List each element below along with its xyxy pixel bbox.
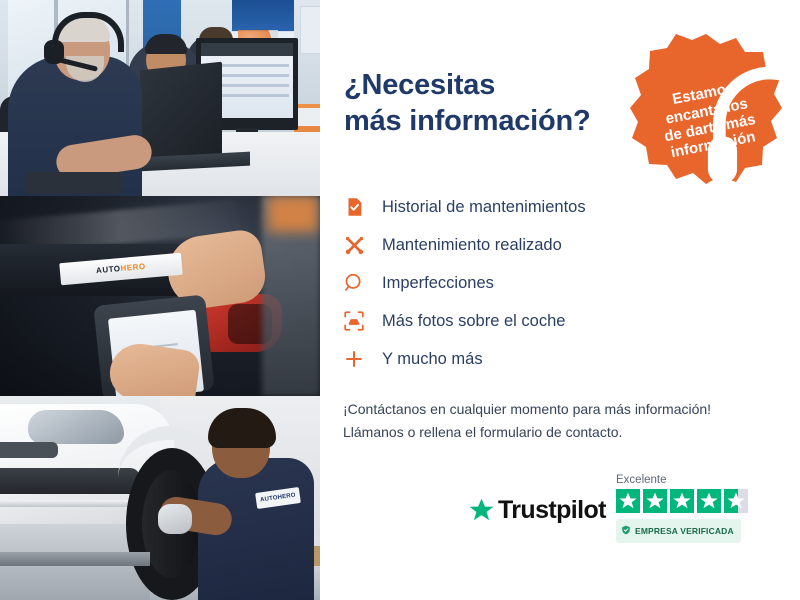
trustpilot-rating: Excelente xyxy=(616,474,750,543)
feature-item-historial: Historial de mantenimientos xyxy=(342,188,672,226)
feature-label: Imperfecciones xyxy=(382,274,494,293)
feature-list: Historial de mantenimientos M xyxy=(342,188,672,378)
info-banner: AUTOHERO AUTOHE xyxy=(0,0,800,600)
background-agent-center-hair xyxy=(145,34,187,54)
monitor-screen-header xyxy=(201,43,293,56)
rating-star-5-partial xyxy=(724,489,748,513)
mechanic-glove xyxy=(158,504,192,534)
feature-label: Mantenimiento realizado xyxy=(382,236,562,255)
rating-label: Excelente xyxy=(616,474,750,486)
verified-badge: EMPRESA VERIFICADA xyxy=(616,519,741,543)
heading-line-2: más información? xyxy=(344,105,591,137)
car-chrome-trim xyxy=(0,500,134,507)
magnifier-icon xyxy=(342,271,366,295)
call-center-agents-photo xyxy=(0,0,320,196)
rating-star-1 xyxy=(616,489,640,513)
wall-poster-secondary xyxy=(300,6,320,54)
trustpilot-widget[interactable]: Trustpilot Excelente xyxy=(468,474,768,554)
trustpilot-wordmark: Trustpilot xyxy=(498,496,606,525)
car-headlight xyxy=(28,410,124,444)
rating-star-4 xyxy=(697,489,721,513)
tools-icon xyxy=(342,233,366,257)
shield-check-icon xyxy=(621,522,631,540)
car-scan-icon xyxy=(342,309,366,333)
feature-item-fotos: Más fotos sobre el coche xyxy=(342,302,672,340)
rating-star-2 xyxy=(643,489,667,513)
document-check-icon xyxy=(342,195,366,219)
verified-label: EMPRESA VERIFICADA xyxy=(635,526,734,536)
feature-label: Historial de mantenimientos xyxy=(382,198,586,217)
feature-item-mantenimiento: Mantenimiento realizado xyxy=(342,226,672,264)
heading-line-1: ¿Necesitas xyxy=(344,69,495,101)
contact-line-1: ¡Contáctanos en cualquier momento para m… xyxy=(343,398,783,421)
feature-item-mas: Y mucho más xyxy=(342,340,672,378)
contact-badge: Estamos encantados de darte más informac… xyxy=(630,32,782,184)
background-orange-blur xyxy=(268,196,318,232)
car-inspection-ruler-photo: AUTOHERO xyxy=(0,196,320,396)
mechanic-wheel-photo: AUTOHERO xyxy=(0,396,320,600)
desk-tablet xyxy=(26,172,122,194)
rating-star-3 xyxy=(670,489,694,513)
photo-column: AUTOHERO AUTOHE xyxy=(0,0,320,600)
headset-icon xyxy=(694,54,720,80)
car-upper-grille xyxy=(0,442,58,458)
content-panel: ¿Necesitasmás información? Estamos encan… xyxy=(320,0,800,600)
trustpilot-star-icon xyxy=(468,497,495,524)
contact-line-2: Llámanos o rellena el formulario de cont… xyxy=(343,421,783,444)
feature-label: Más fotos sobre el coche xyxy=(382,312,565,331)
feature-item-imperfecciones: Imperfecciones xyxy=(342,264,672,302)
plus-icon xyxy=(342,347,366,371)
page-title: ¿Necesitasmás información? xyxy=(344,68,591,139)
feature-label: Y mucho más xyxy=(382,350,483,369)
contact-text: ¡Contáctanos en cualquier momento para m… xyxy=(343,398,783,443)
vehicle-lift xyxy=(0,552,150,566)
trustpilot-logo[interactable]: Trustpilot xyxy=(468,496,606,525)
star-rating xyxy=(616,489,750,513)
laptop-screen xyxy=(140,62,222,169)
